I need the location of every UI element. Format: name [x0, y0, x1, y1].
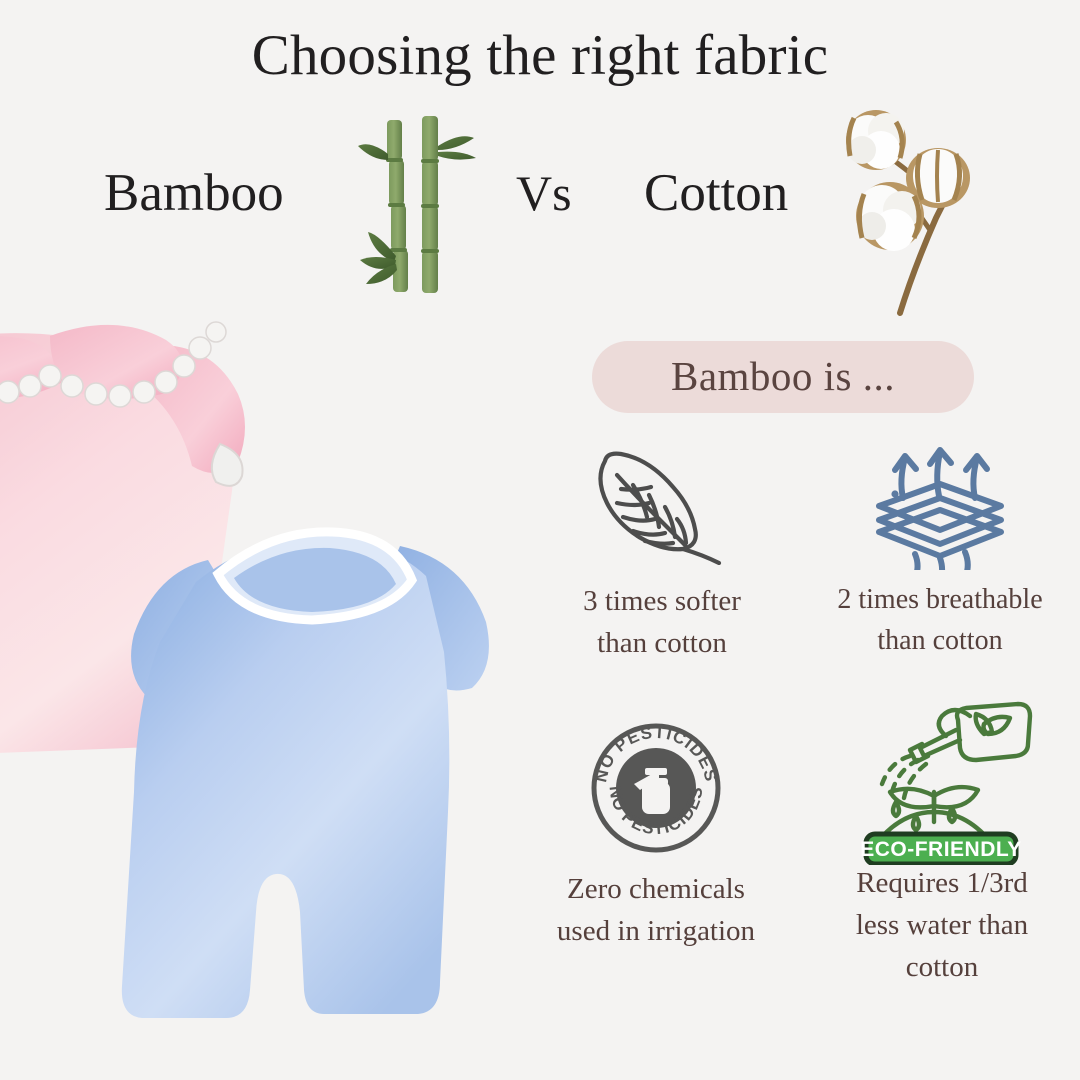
blue-baby-romper-illustration — [100, 512, 520, 1057]
page-title: Choosing the right fabric — [0, 26, 1080, 86]
breathable-fabric-layers-icon — [798, 430, 1080, 580]
feature-label: Requires 1/3rd less water than cotton — [800, 862, 1080, 988]
feature-item-no-pesticides: NO PESTICIDES NO PESTICIDES — [514, 708, 798, 952]
feather-icon — [520, 430, 804, 580]
feature-item-softer: 3 times softer than cotton — [520, 430, 804, 664]
feature-item-breathable: 2 times breathable than cotton — [798, 430, 1080, 661]
feature-label: 3 times softer than cotton — [520, 580, 804, 664]
comparison-left-label: Bamboo — [104, 148, 284, 238]
comparison-versus-label: Vs — [516, 148, 572, 238]
bamboo-is-banner: Bamboo is ... — [592, 341, 974, 413]
cotton-branch-icon — [818, 98, 1023, 320]
banner-text: Bamboo is ... — [671, 352, 895, 400]
eco-badge-text: ECO-FRIENDLY — [860, 838, 1022, 861]
watering-can-plant-icon: ECO-FRIENDLY — [800, 702, 1080, 862]
feature-grid: 3 times softer than cotton — [512, 430, 1080, 1070]
feature-item-less-water: ECO-FRIENDLY Requires 1/3rd less water t… — [800, 702, 1080, 988]
infographic-canvas: Choosing the right fabric Bamboo Vs Cott… — [0, 0, 1080, 1080]
feature-label: 2 times breathable than cotton — [798, 580, 1080, 661]
bamboo-stalks-icon — [352, 108, 482, 293]
comparison-right-label: Cotton — [644, 148, 788, 238]
feature-label: Zero chemicals used in irrigation — [514, 868, 798, 952]
no-pesticides-badge-icon: NO PESTICIDES NO PESTICIDES — [514, 708, 798, 868]
